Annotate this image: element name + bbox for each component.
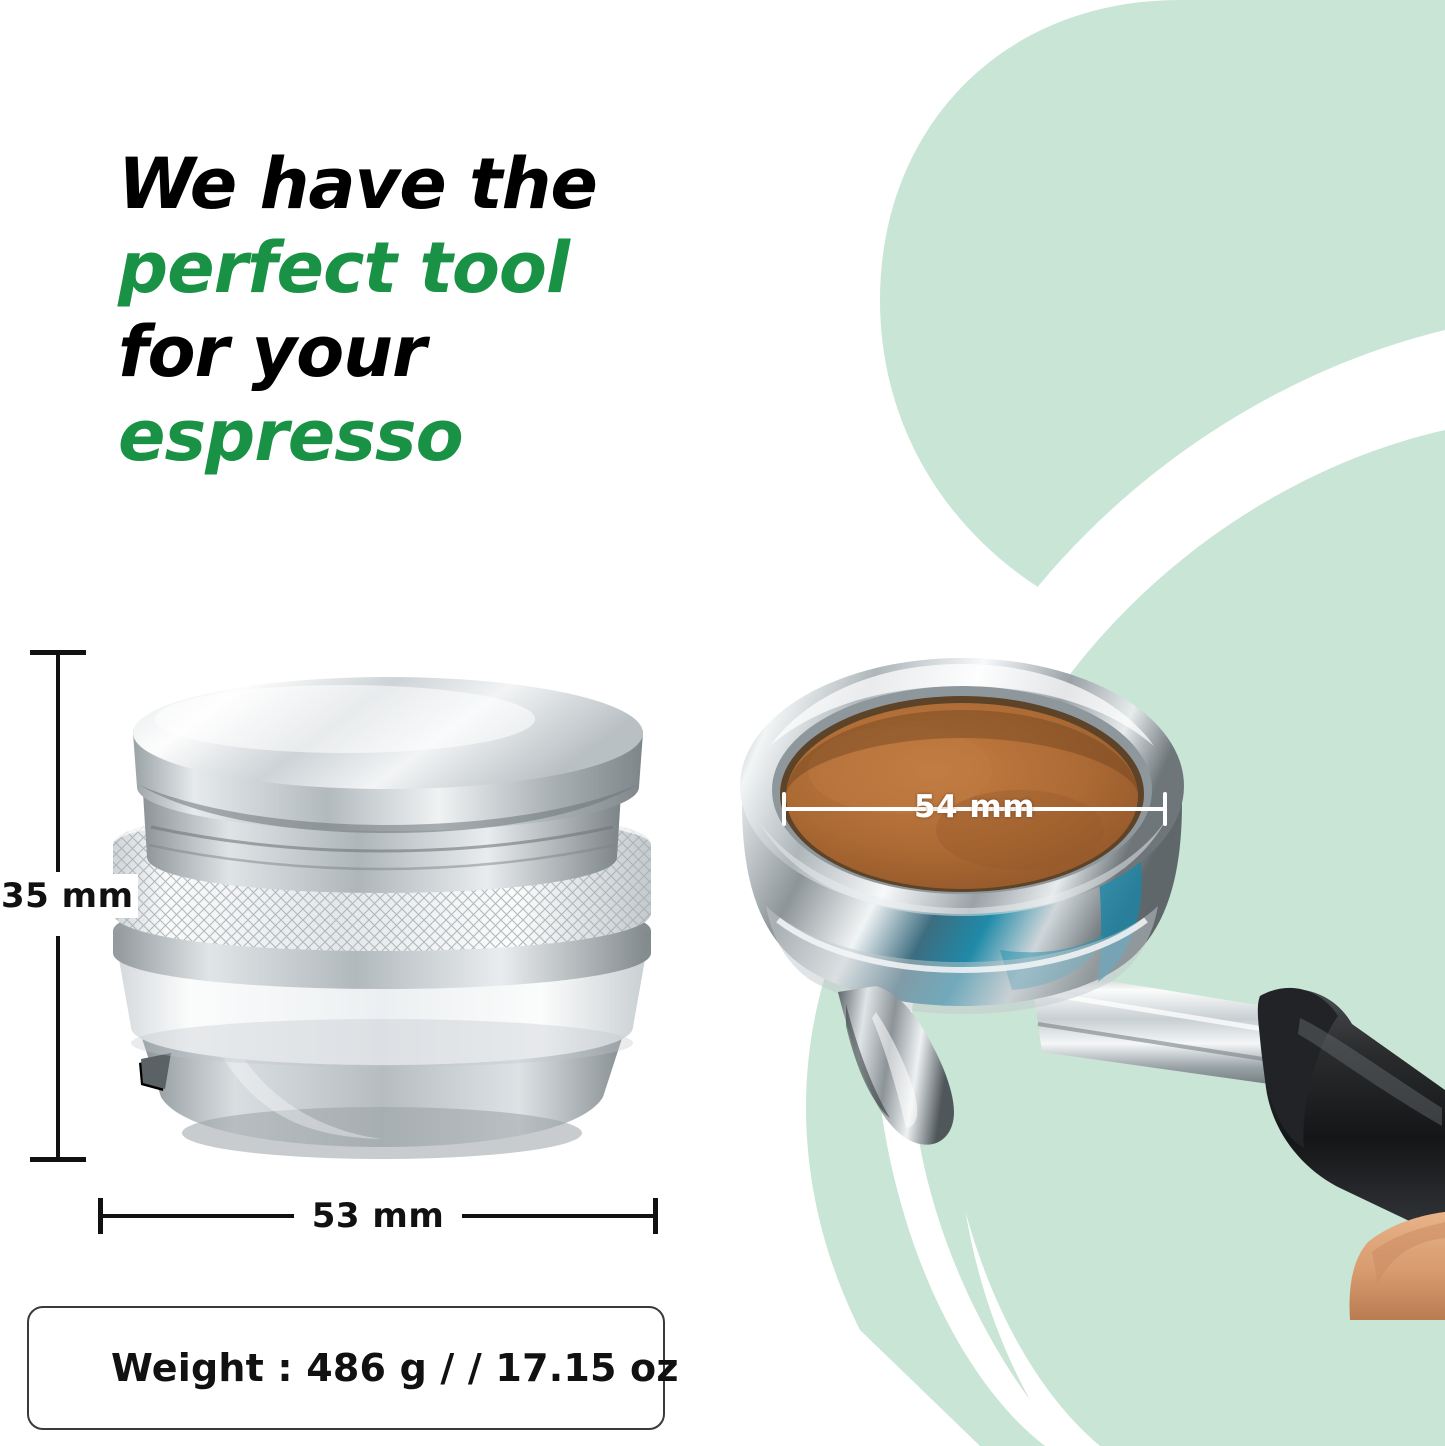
coffee-distributor-leveler-tool	[105, 645, 660, 1165]
weight-text: Weight : 486 g / / 17.15 oz	[111, 1346, 679, 1390]
dimension-cap-bottom	[30, 1157, 86, 1162]
tool-base-bottom-edge	[182, 1107, 582, 1159]
tool-body-lower-shade	[131, 1019, 633, 1067]
portafilter-with-coffee-grounds	[700, 620, 1445, 1320]
tool-top-disc-face-sheen	[155, 685, 535, 753]
weight-badge: Weight : 486 g / / 17.15 oz	[27, 1306, 665, 1430]
dimension-label-width: 53 mm	[294, 1194, 463, 1238]
headline-line-4: espresso	[118, 394, 678, 478]
dimension-line-width: 53 mm	[98, 1198, 658, 1236]
product-infographic-page: We have the perfect tool for your espres…	[0, 0, 1445, 1446]
headline: We have the perfect tool for your espres…	[118, 142, 678, 478]
dimension-label-basket-wrap: 54 mm	[782, 778, 1167, 836]
headline-line-3: for your	[118, 310, 678, 394]
headline-line-2: perfect tool	[118, 226, 678, 310]
dimension-label-height: 35 mm	[0, 874, 138, 918]
dimension-label-width-wrap: 53 mm	[98, 1194, 658, 1238]
headline-line-1: We have the	[118, 142, 678, 226]
dimension-label-basket: 54 mm	[902, 778, 1047, 836]
dimension-line-basket-diameter: 54 mm	[782, 786, 1167, 832]
